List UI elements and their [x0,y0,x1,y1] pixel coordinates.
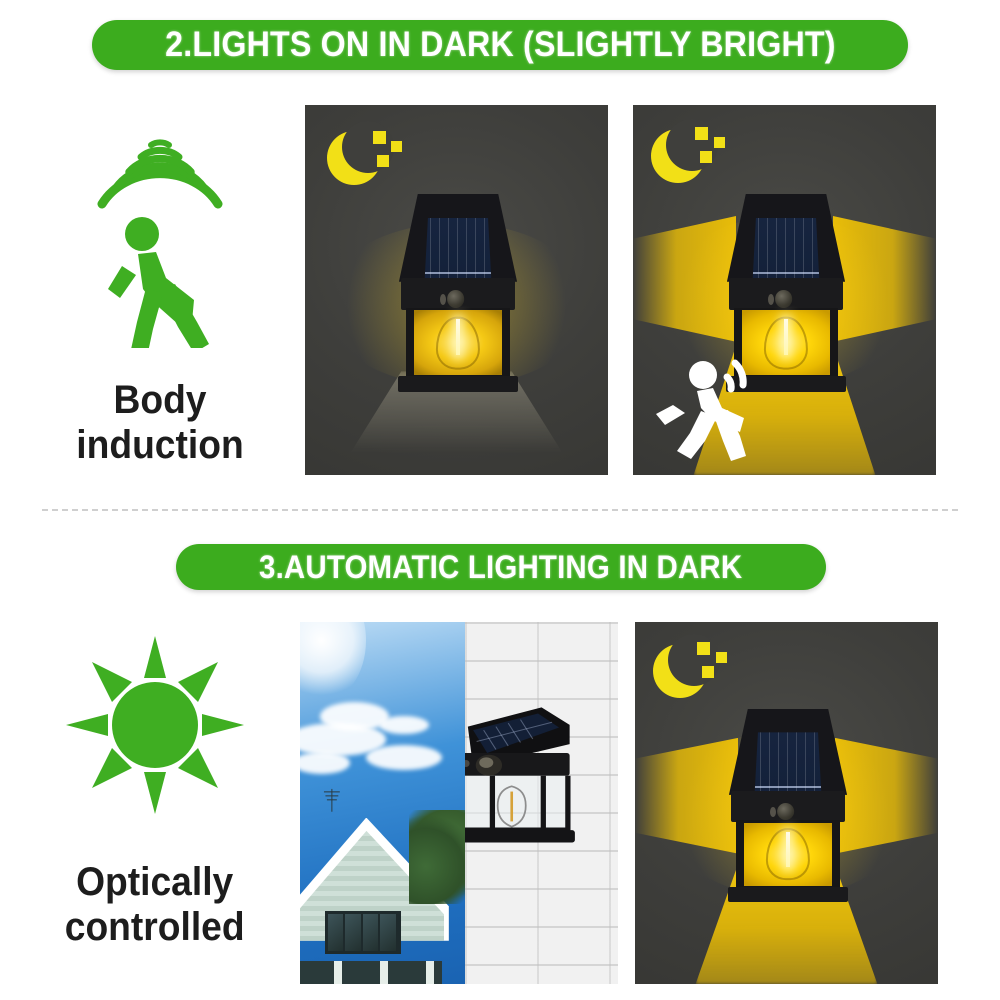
feature-optically-controlled: Optically controlled [30,630,280,950]
walking-person-motion-sensor-svg [60,108,260,348]
solar-wall-lamp-unlit [465,680,578,861]
running-person-svg [651,355,771,467]
lamp-glass-housing [406,308,510,378]
white-brick-wall [465,622,618,984]
cloud [366,745,442,770]
star-sparkle-icon [373,131,386,144]
gable-window [325,911,401,954]
panel-night-auto [635,622,938,984]
pir-motion-sensor-icon [775,290,793,308]
bulb-filament [786,832,790,867]
feature-body-induction: Body induction [35,108,285,468]
indicator-led [440,294,446,305]
lamp-base [465,830,574,842]
lamp-base [398,376,519,392]
infographic-page: 2.LIGHTS ON IN DARK (SLIGHTLY BRIGHT) [0,0,1000,1000]
star-sparkle-icon [716,652,727,663]
lamp-glass-housing [465,776,569,830]
section-banner-lights-on-in-dark: 2.LIGHTS ON IN DARK (SLIGHTLY BRIGHT) [92,20,908,70]
cloud [300,752,350,774]
star-sparkle-icon [391,141,402,152]
walking-person-motion-sensor-icon [60,108,260,348]
star-sparkle-icon [695,127,708,140]
window-pane [328,914,345,951]
lamp-glass-housing [736,820,840,888]
banner-text: 2.LIGHTS ON IN DARK (SLIGHTLY BRIGHT) [165,25,836,65]
banner-text: 3.AUTOMATIC LIGHTING IN DARK [259,549,742,586]
panel-night-dim [305,105,608,475]
panel-night-bright [633,105,936,475]
feature-label-line-1: Optically [65,860,245,905]
section-banner-automatic-lighting: 3.AUTOMATIC LIGHTING IN DARK [176,544,826,590]
sun-icon [60,630,250,820]
solar-busbar [749,272,822,274]
star-sparkle-icon [714,137,725,148]
star-sparkle-icon [702,666,714,678]
star-sparkle-icon [700,151,712,163]
window-pane [380,914,397,951]
lamp-lit-panel [744,823,831,886]
feature-label-line-2: controlled [65,905,245,950]
pir-lens [479,757,493,768]
feature-label-line-1: Body [76,378,243,423]
feature-label-optically-controlled: Optically controlled [65,860,245,950]
section-divider [42,509,958,511]
window-pane [345,914,362,951]
wall-lamp-svg [465,680,578,861]
sun-flare [300,622,366,702]
feature-label-body-induction: Body induction [76,378,243,468]
moon-cutout [668,634,720,686]
cloud [379,716,429,734]
lower-windows [300,961,442,984]
indicator-led [768,294,774,305]
solar-wall-lamp [729,709,847,904]
moon-cutout [666,119,718,171]
star-sparkle-icon [697,642,710,655]
tree-foliage [409,810,465,904]
sun-icon-svg [60,630,250,820]
bulb-filament [456,319,460,355]
running-person-icon [651,355,771,467]
pir-motion-sensor-icon [777,803,795,821]
star-sparkle-icon [377,155,389,167]
solar-busbar [421,272,494,274]
lamp-base [728,887,849,903]
feature-label-line-2: induction [76,423,243,468]
lamp-lit-panel [414,310,501,374]
solar-busbar [751,786,824,788]
crescent-moon-icon [651,125,725,199]
panel-daylight-house [300,622,618,984]
pir-motion-sensor-icon [447,290,465,308]
sky-background [300,622,465,984]
window-pane [363,914,380,951]
crescent-moon-icon [327,127,401,201]
bulb-filament [784,319,788,355]
crescent-moon-icon [653,640,727,714]
solar-wall-lamp [399,194,517,394]
